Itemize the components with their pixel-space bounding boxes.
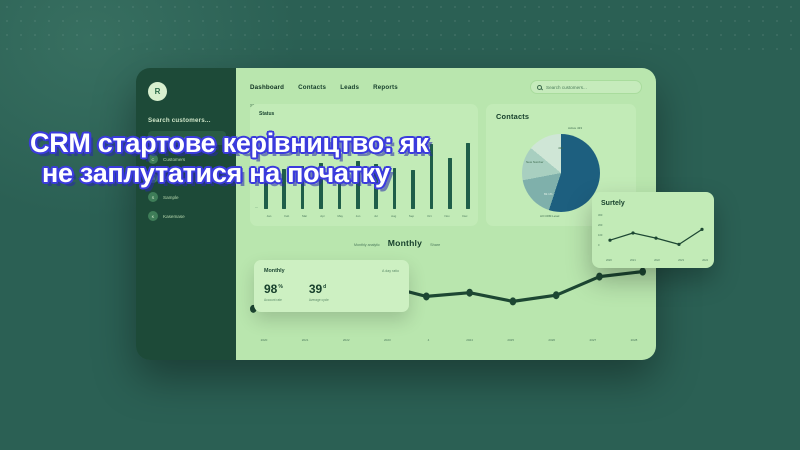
pie-label: New Number <box>526 160 544 164</box>
line-point <box>700 228 703 231</box>
tab-reports[interactable]: Reports <box>373 84 398 91</box>
tab-dashboard[interactable]: Dashboard <box>250 84 284 91</box>
line-point <box>553 291 560 299</box>
screenshot-root: R Search customers... Search customers..… <box>0 0 800 450</box>
line-x-tick: 2026 <box>544 338 560 342</box>
kpi-sublabel: Average cycle <box>309 298 329 302</box>
search-placeholder: Search customers... <box>546 85 587 90</box>
bar-x-tick: Feb <box>282 214 292 218</box>
bar-x-tick: Dec <box>460 214 470 218</box>
survey-x-tick: 2024 <box>702 259 708 262</box>
line-chart-note-right: Share <box>430 243 440 247</box>
kpi-stat: 98% Account rate <box>264 283 283 302</box>
bar-x-tick: Mar <box>300 214 310 218</box>
kpi-title: Monthly <box>264 268 285 274</box>
line-chart-header: Monthly analytic Monthly Share <box>250 238 646 248</box>
search-icon <box>537 85 542 90</box>
kpi-value-unit: d <box>323 284 326 290</box>
survey-x-tick: 2021 <box>630 259 636 262</box>
search-input[interactable]: Search customers... <box>530 80 642 94</box>
survey-chart-x-axis: 20202021202220232024 <box>606 259 708 262</box>
app-logo-text: R <box>155 87 161 96</box>
top-nav: Dashboard Contacts Leads Reports <box>250 84 398 91</box>
kpi-value-number: 98 <box>264 282 277 296</box>
avatar: K <box>148 211 158 221</box>
line-x-tick: 2023 <box>379 338 395 342</box>
top-bar: Dashboard Contacts Leads Reports Search … <box>250 80 642 94</box>
kpi-value: 98% <box>264 283 283 295</box>
survey-y-tick: 100 <box>598 234 602 237</box>
survey-x-tick: 2023 <box>678 259 684 262</box>
bar <box>466 143 470 209</box>
line-point <box>677 243 680 246</box>
line-point <box>466 289 473 297</box>
line-point <box>510 297 517 305</box>
bar-x-tick: Sep <box>407 214 417 218</box>
pie-chart-title: Contacts <box>496 112 529 121</box>
kpi-value-number: 39 <box>309 282 322 296</box>
bar-x-tick: Nov <box>442 214 452 218</box>
survey-y-tick: 0 <box>598 244 599 247</box>
bar-x-tick: Oct <box>424 214 434 218</box>
line-x-tick: 4 <box>420 338 436 342</box>
sidebar: R Search customers... Search customers..… <box>136 68 236 360</box>
bar-x-tick: Aug <box>389 214 399 218</box>
pie-label: 430 <box>558 146 563 150</box>
line-x-tick: 2027 <box>585 338 601 342</box>
bar-chart-x-axis: JanFebMarAprMayJunJulAugSepOctNovDec <box>264 214 470 218</box>
overlay-headline: CRM стартове керівництво: як не заплутат… <box>30 128 450 188</box>
bar-chart-title: Status <box>259 111 274 117</box>
kpi-header: Monthly A day ratio <box>264 268 399 274</box>
line-x-tick: 2028 <box>626 338 642 342</box>
bar-x-tick: Jan <box>264 214 274 218</box>
kpi-value-unit: % <box>278 284 282 290</box>
survey-y-tick: 300 <box>598 214 602 217</box>
survey-chart-graphic <box>606 214 706 252</box>
line-chart-note-left: Monthly analytic <box>354 243 380 247</box>
bar-x-tick: Apr <box>317 214 327 218</box>
list-item-label: Sample <box>163 195 179 200</box>
line-point <box>423 292 430 300</box>
kpi-card: Monthly A day ratio 98% Account rate 39d <box>254 260 409 312</box>
line-x-tick: 2025 <box>503 338 519 342</box>
line-chart-title: Monthly <box>388 238 422 248</box>
pie-label: 82.1% <box>544 192 553 196</box>
pie-label: Active 433 <box>568 126 582 130</box>
bar-x-tick: Jul <box>371 214 381 218</box>
list-item-label: Kasemase <box>163 214 185 219</box>
line-chart-x-axis: 2020202120222023420242025202620272028 <box>256 338 642 342</box>
sidebar-section-label: Search customers... <box>148 117 226 124</box>
crm-app-window: R Search customers... Search customers..… <box>136 68 656 360</box>
list-item[interactable]: K Kasemase <box>148 211 226 221</box>
survey-x-tick: 2022 <box>654 259 660 262</box>
line-x-tick: 2022 <box>338 338 354 342</box>
line-x-tick: 2024 <box>462 338 478 342</box>
kpi-stat: 39d Average cycle <box>309 283 329 302</box>
line-x-tick: 2020 <box>256 338 272 342</box>
line-x-tick: 2021 <box>297 338 313 342</box>
line-point <box>631 231 634 234</box>
app-logo-icon[interactable]: R <box>148 82 167 101</box>
line-point <box>639 268 646 276</box>
bar-x-tick: May <box>335 214 345 218</box>
line-point <box>654 237 657 240</box>
headline-line-2: не заплутатися на початку <box>30 158 450 188</box>
headline-line-1: CRM стартове керівництво: як <box>30 128 428 158</box>
tab-contacts[interactable]: Contacts <box>298 84 326 91</box>
list-item[interactable]: S Sample <box>148 192 226 202</box>
bar-chart-y-axis: — <box>255 205 258 209</box>
avatar: S <box>148 192 158 202</box>
kpi-meta: A day ratio <box>382 269 399 273</box>
survey-x-tick: 2020 <box>606 259 612 262</box>
kpi-stats: 98% Account rate 39d Average cycle <box>264 283 399 302</box>
kpi-sublabel: Account rate <box>264 298 283 302</box>
bar-x-tick: Jun <box>353 214 363 218</box>
pie-label: AII CRM Level <box>540 214 559 218</box>
survey-y-tick: 200 <box>598 224 602 227</box>
line-point <box>608 239 611 242</box>
tab-leads[interactable]: Leads <box>340 84 359 91</box>
survey-chart-title: Surtely <box>601 200 705 207</box>
kpi-value: 39d <box>309 283 329 295</box>
line-point <box>596 273 603 281</box>
survey-chart-card: Surtely 300 200 100 0 202020212022202320… <box>592 192 714 268</box>
